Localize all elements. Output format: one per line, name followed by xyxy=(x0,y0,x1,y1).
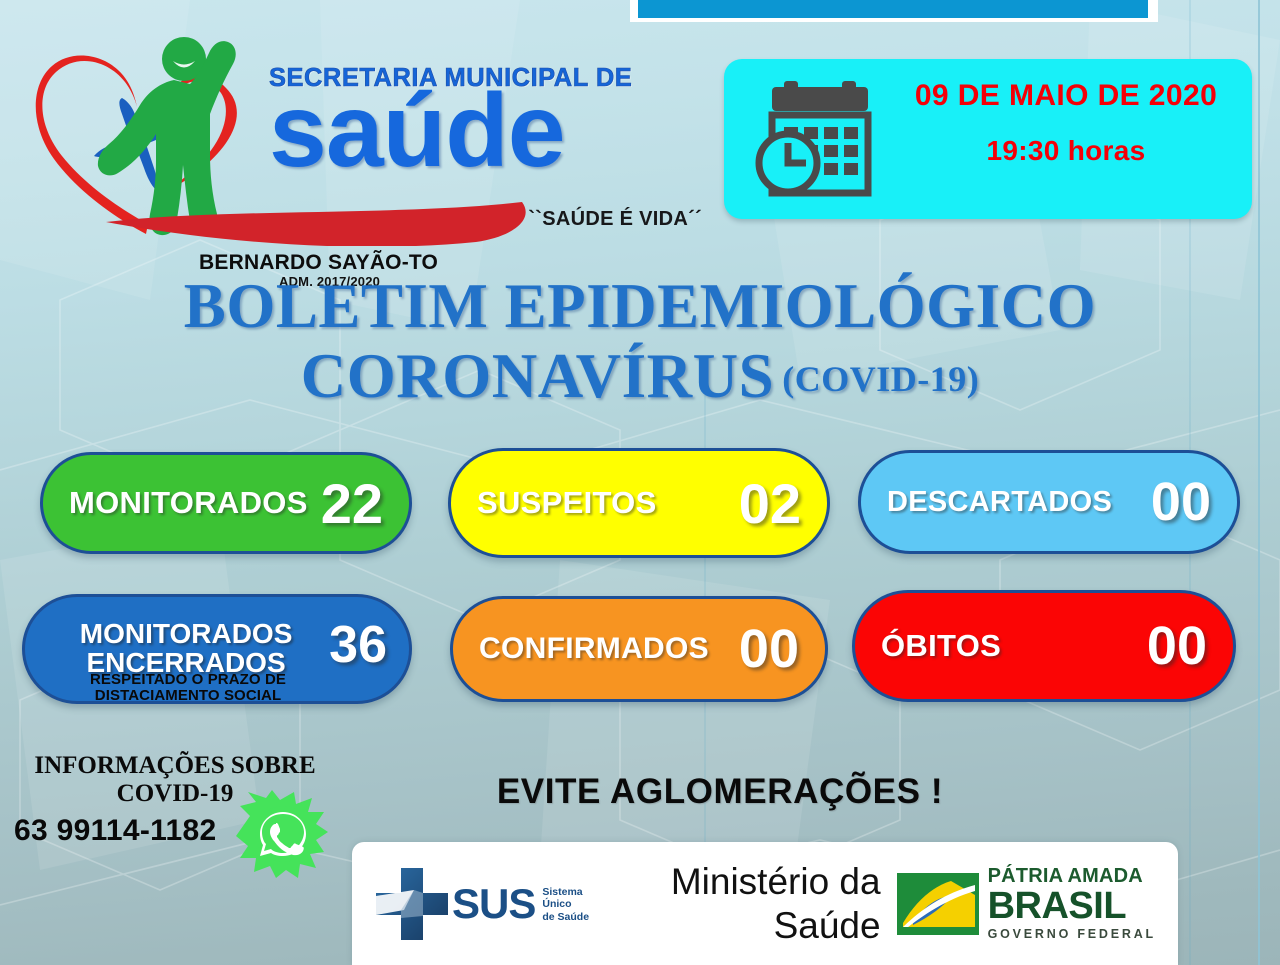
stat-note-line-2: DISTACIAMENTO SOCIAL xyxy=(95,687,281,704)
stat-label: CONFIRMADOS xyxy=(479,632,709,666)
brasil-line-2: BRASIL xyxy=(988,887,1156,925)
ministry-line-1: Ministério da xyxy=(589,860,881,904)
logo-saude-word: saúde xyxy=(269,89,714,174)
title-line-2: CORONAVÍRUS(COVID-19) xyxy=(0,342,1280,411)
stat-card-suspeitos[interactable]: SUSPEITOS 02 xyxy=(448,448,830,558)
stat-label: SUSPEITOS xyxy=(477,485,657,521)
logo-tagline: ``SAÚDE É VIDA´´ xyxy=(528,208,702,231)
date-time-card: 09 DE MAIO DE 2020 19:30 horas xyxy=(724,59,1252,219)
sus-sub-line-1: Sistema xyxy=(542,886,582,898)
statistics-panel: MONITORADOS 22 SUSPEITOS 02 DESCARTADOS … xyxy=(0,444,1280,714)
logo-text-block: SECRETARIA MUNICIPAL DE saúde xyxy=(269,64,714,174)
brasil-government-logo: PÁTRIA AMADA BRASIL GOVERNO FEDERAL xyxy=(897,866,1156,941)
brasil-wordmark: PÁTRIA AMADA BRASIL GOVERNO FEDERAL xyxy=(988,866,1156,941)
stat-label: ÓBITOS xyxy=(881,628,1001,664)
stat-value: 22 xyxy=(321,471,383,536)
stat-label: DESCARTADOS xyxy=(887,486,1112,519)
blue-bar xyxy=(638,0,1148,18)
stat-value: 00 xyxy=(1151,471,1211,533)
avoid-crowds-notice: EVITE AGLOMERAÇÕES ! xyxy=(400,772,1040,812)
stat-card-monitorados[interactable]: MONITORADOS 22 xyxy=(40,452,412,554)
title-coronavirus: CORONAVÍRUS xyxy=(301,341,774,411)
stat-value: 02 xyxy=(739,471,801,536)
brasil-line-3: GOVERNO FEDERAL xyxy=(988,928,1156,941)
stat-note-line-1: RESPEITADO O PRAZO DE xyxy=(90,671,286,688)
sus-wordmark: SUS xyxy=(452,880,535,928)
sus-subtitle: Sistema Único de Saúde xyxy=(542,886,589,923)
health-department-logo: SECRETARIA MUNICIPAL DE saúde ``SAÚDE É … xyxy=(24,26,714,276)
calendar-clock-icon xyxy=(754,81,884,201)
stat-label-block: MONITORADOS ENCERRADOS xyxy=(47,620,325,677)
page-title: BOLETIM EPIDEMIOLÓGICO CORONAVÍRUS(COVID… xyxy=(0,272,1280,411)
stat-label: MONITORADOS xyxy=(69,485,308,521)
stat-label-line-1: MONITORADOS xyxy=(80,618,293,649)
brasil-line-1: PÁTRIA AMADA xyxy=(988,866,1156,886)
stat-value: 00 xyxy=(739,618,799,680)
date-text-block: 09 DE MAIO DE 2020 19:30 horas xyxy=(894,77,1238,167)
top-blue-bar-fragment xyxy=(630,0,1158,22)
header: SECRETARIA MUNICIPAL DE saúde ``SAÚDE É … xyxy=(0,26,1280,276)
sus-cross-icon xyxy=(374,866,450,942)
ministry-line-2: Saúde xyxy=(589,904,881,948)
sus-logo: SUS Sistema Único de Saúde xyxy=(374,866,589,942)
contact-info: INFORMAÇÕES SOBRE COVID-19 63 99114-1182 xyxy=(10,752,340,862)
stat-card-obitos[interactable]: ÓBITOS 00 xyxy=(852,590,1236,702)
stat-value: 36 xyxy=(329,615,387,675)
stat-value: 00 xyxy=(1147,615,1207,677)
title-line-1: BOLETIM EPIDEMIOLÓGICO xyxy=(0,272,1280,340)
title-covid-suffix: (COVID-19) xyxy=(782,359,979,399)
logo-swoosh xyxy=(104,202,544,246)
sus-sub-line-2: Único xyxy=(542,898,571,910)
footer-banner: SUS Sistema Único de Saúde Ministério da… xyxy=(352,842,1178,965)
sus-sub-line-3: de Saúde xyxy=(542,911,589,923)
stat-note-encerrados: RESPEITADO O PRAZO DE DISTACIAMENTO SOCI… xyxy=(50,672,326,704)
ministry-of-health-text: Ministério da Saúde xyxy=(589,860,897,947)
stat-card-descartados[interactable]: DESCARTADOS 00 xyxy=(858,450,1240,554)
bulletin-date: 09 DE MAIO DE 2020 xyxy=(894,77,1238,115)
brazil-flag-icon xyxy=(897,873,979,935)
stat-card-confirmados[interactable]: CONFIRMADOS 00 xyxy=(450,596,828,702)
whatsapp-icon[interactable] xyxy=(236,790,328,878)
contact-line-1: INFORMAÇÕES SOBRE xyxy=(10,752,340,780)
bulletin-time: 19:30 horas xyxy=(894,135,1238,167)
